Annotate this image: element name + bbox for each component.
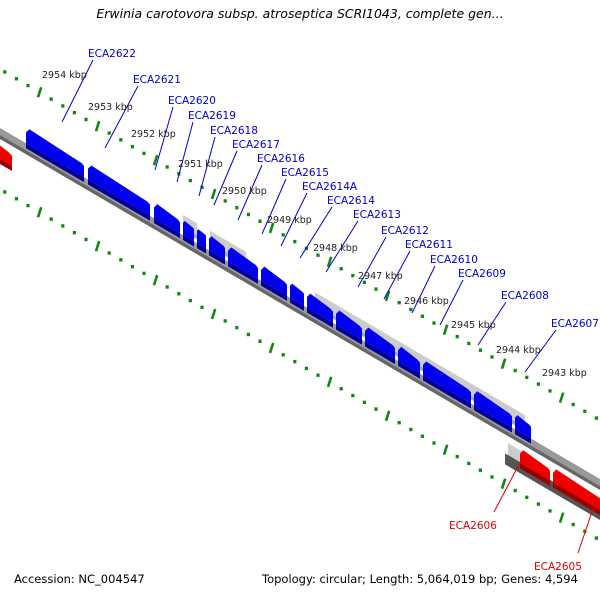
gene-label-eca2616[interactable]: ECA2616 bbox=[257, 153, 305, 165]
gene-label-eca2610[interactable]: ECA2610 bbox=[430, 254, 478, 266]
gene-label-eca2614a[interactable]: ECA2614A bbox=[302, 181, 357, 193]
gene-label-eca2617[interactable]: ECA2617 bbox=[232, 139, 280, 151]
gene-label-eca2615[interactable]: ECA2615 bbox=[281, 167, 329, 179]
gene-label-eca2618[interactable]: ECA2618 bbox=[210, 125, 258, 137]
axis-tick-label: 2947 kbp bbox=[358, 271, 403, 282]
axis-tick-label: 2952 kbp bbox=[131, 129, 176, 140]
ruler-track-lower bbox=[0, 173, 600, 560]
genome-map-viewer[interactable]: Erwinia carotovora subsp. atroseptica SC… bbox=[0, 0, 600, 600]
gene-label-eca2611[interactable]: ECA2611 bbox=[405, 239, 453, 251]
axis-tick-label: 2954 kbp bbox=[42, 70, 87, 81]
gene-label-eca2619[interactable]: ECA2619 bbox=[188, 110, 236, 122]
accession-status: Accession: NC_004547 bbox=[14, 572, 145, 586]
axis-tick-label: 2948 kbp bbox=[313, 243, 358, 254]
gene-label-eca2609[interactable]: ECA2609 bbox=[458, 268, 506, 280]
gene-label-eca2622[interactable]: ECA2622 bbox=[88, 48, 136, 60]
gene-label-eca2613[interactable]: ECA2613 bbox=[353, 209, 401, 221]
gene-label-eca2606[interactable]: ECA2606 bbox=[449, 520, 497, 532]
gene-label-eca2612[interactable]: ECA2612 bbox=[381, 225, 429, 237]
axis-tick-label: 2943 kbp bbox=[542, 368, 587, 379]
genome-summary-status: Topology: circular; Length: 5,064,019 bp… bbox=[262, 572, 578, 586]
gene-label-leader bbox=[177, 122, 193, 182]
axis-tick-label: 2950 kbp bbox=[222, 186, 267, 197]
axis-tick-label: 2949 kbp bbox=[267, 215, 312, 226]
gene-label-eca2607[interactable]: ECA2607 bbox=[551, 318, 599, 330]
gene-label-eca2608[interactable]: ECA2608 bbox=[501, 290, 549, 302]
gene-label-eca2614[interactable]: ECA2614 bbox=[327, 195, 375, 207]
axis-tick-label: 2945 kbp bbox=[451, 320, 496, 331]
axis-tick-label: 2953 kbp bbox=[88, 102, 133, 113]
axis-tick-label: 2944 kbp bbox=[496, 345, 541, 356]
axis-tick-label: 2951 kbp bbox=[178, 159, 223, 170]
gene-label-eca2620[interactable]: ECA2620 bbox=[168, 95, 216, 107]
axis-tick-label: 2946 kbp bbox=[404, 296, 449, 307]
gene-label-eca2621[interactable]: ECA2621 bbox=[133, 74, 181, 86]
page-title: Erwinia carotovora subsp. atroseptica SC… bbox=[0, 6, 600, 21]
